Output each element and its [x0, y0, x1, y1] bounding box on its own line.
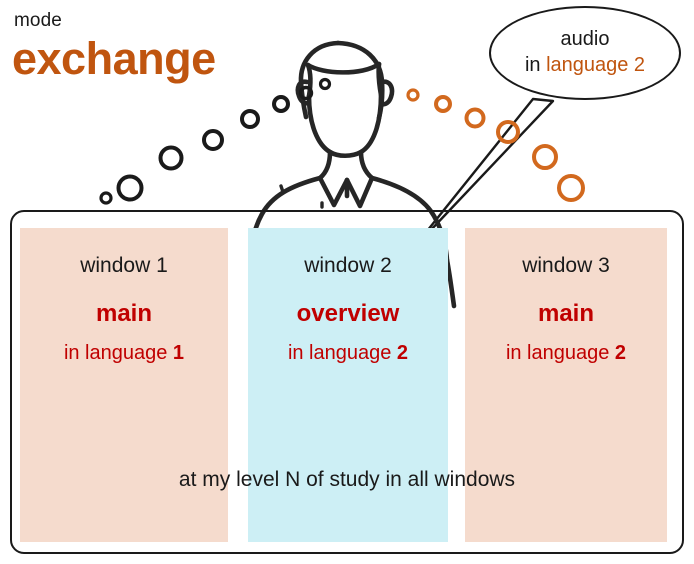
window-3-language-number: 2 [615, 342, 626, 364]
window-2-language-prefix: in language [288, 342, 397, 364]
window-panel-2[interactable]: window 2 overview in language 2 [248, 228, 448, 542]
window-1-language-prefix: in language [64, 342, 173, 364]
window-3-title: window 3 [465, 254, 667, 278]
bubble-line-1: audio [561, 27, 610, 53]
orange-circles-trail-icon [408, 90, 583, 200]
window-panel-3[interactable]: window 3 main in language 2 [465, 228, 667, 542]
bubble-line-2-accent: language 2 [546, 54, 645, 76]
mode-label: mode [14, 10, 62, 32]
window-panel-1[interactable]: window 1 main in language 1 [20, 228, 228, 542]
window-2-kind: overview [248, 300, 448, 328]
window-2-title: window 2 [248, 254, 448, 278]
level-note: at my level N of study in all windows [0, 468, 694, 492]
window-2-language-number: 2 [397, 342, 408, 364]
window-1-title: window 1 [20, 254, 228, 278]
windows-panel-group: window 1 main in language 1 window 2 ove… [10, 228, 684, 542]
black-circles-trail-icon [101, 80, 330, 204]
window-1-language: in language 1 [20, 342, 228, 365]
window-1-kind: main [20, 300, 228, 328]
window-2-language: in language 2 [248, 342, 448, 365]
audio-speech-bubble: audio in language 2 [489, 6, 681, 100]
bubble-line-2-prefix: in [525, 54, 546, 76]
bubble-line-2: in language 2 [525, 53, 645, 79]
mode-title: exchange [12, 36, 216, 81]
window-1-language-number: 1 [173, 342, 184, 364]
window-3-language-prefix: in language [506, 342, 615, 364]
window-3-language: in language 2 [465, 342, 667, 365]
window-3-kind: main [465, 300, 667, 328]
diagram-canvas: mode exchange [0, 0, 694, 564]
